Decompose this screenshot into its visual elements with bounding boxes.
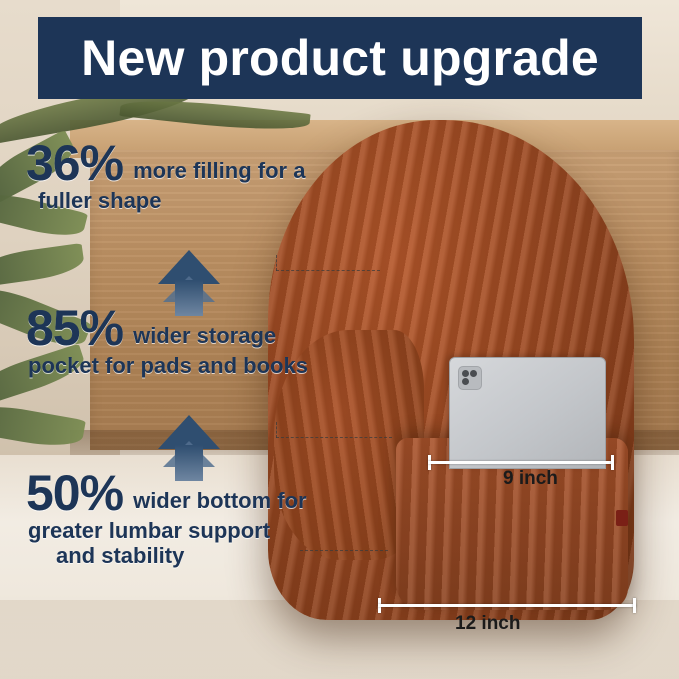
product-infographic: New product upgrade 36% more filling for… — [0, 0, 679, 679]
callout-line-2: pocket for pads and books — [26, 353, 356, 379]
callout-line-2: fuller shape — [26, 188, 356, 214]
callout-line-1: more filling for a — [133, 158, 305, 188]
callout-line-1: wider bottom for — [133, 488, 307, 518]
callout-percent: 85% — [26, 305, 123, 353]
leader-line-middle — [276, 437, 392, 438]
camera-icon — [458, 366, 482, 390]
callout-wider-storage: 85% wider storage pocket for pads and bo… — [26, 305, 356, 378]
callout-percent: 50% — [26, 470, 123, 518]
callout-wider-bottom: 50% wider bottom for greater lumbar supp… — [26, 470, 356, 569]
leader-line-top-tick — [276, 255, 277, 271]
dimension-label-base-width: 12 inch — [455, 613, 520, 635]
leader-line-middle-tick — [276, 422, 277, 438]
title-banner: New product upgrade — [38, 17, 642, 99]
callout-line-2: greater lumbar support — [26, 518, 356, 544]
tablet-device — [449, 357, 606, 469]
dimension-label-pocket-width: 9 inch — [503, 468, 558, 490]
callout-line-3: and stability — [26, 543, 356, 569]
dimension-bar-pocket-width — [428, 455, 614, 469]
page-title: New product upgrade — [81, 33, 599, 83]
dimension-bar-base-width — [378, 598, 636, 612]
brand-tag — [616, 510, 628, 526]
callout-more-filling: 36% more filling for a fuller shape — [26, 140, 356, 213]
callout-line-1: wider storage — [133, 323, 276, 353]
callout-percent: 36% — [26, 140, 123, 188]
leader-line-top — [276, 270, 380, 271]
